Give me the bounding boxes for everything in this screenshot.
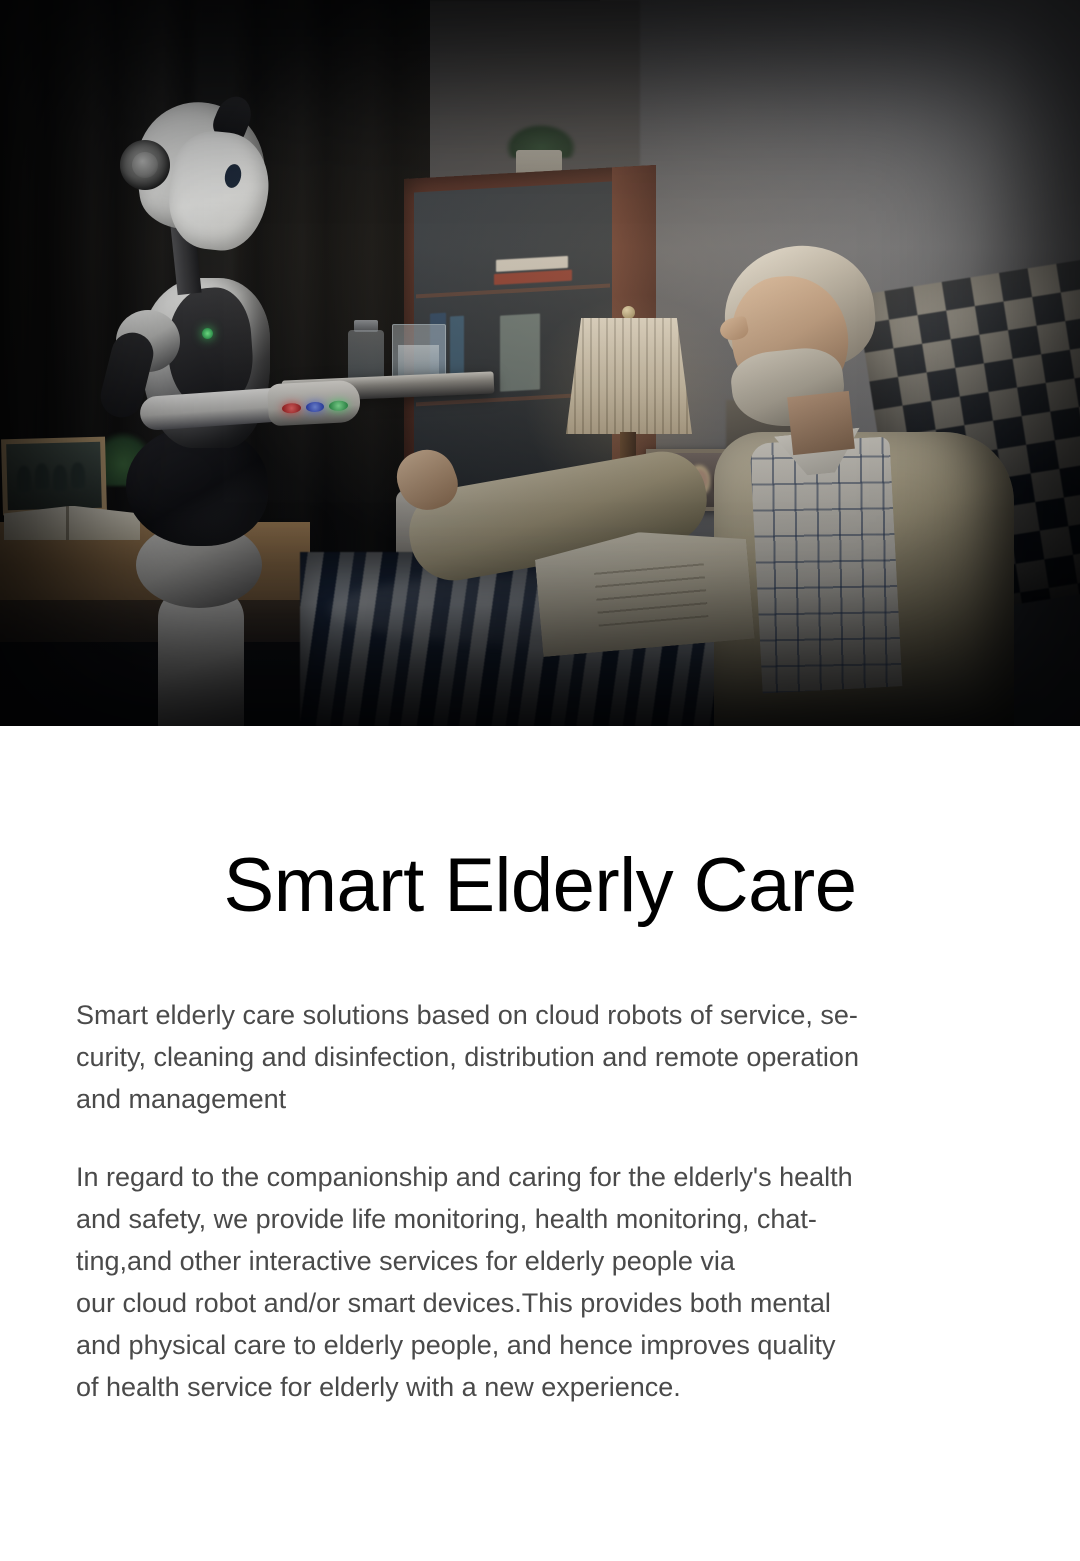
picture-frame-desk bbox=[1, 437, 107, 516]
led-red-icon bbox=[282, 403, 301, 414]
body-copy: Smart elderly care solutions based on cl… bbox=[0, 994, 1080, 1408]
book-spine bbox=[66, 506, 69, 540]
robot-ear-inner bbox=[132, 152, 158, 178]
paragraph-intro: Smart elderly care solutions based on cl… bbox=[76, 994, 1004, 1120]
hero-scene bbox=[0, 0, 1080, 726]
photo-figure bbox=[53, 465, 68, 491]
desk-photo bbox=[6, 442, 102, 510]
paragraph-details: In regard to the companionship and carin… bbox=[76, 1156, 1004, 1408]
led-green-icon bbox=[329, 400, 348, 411]
photo-figure bbox=[17, 466, 32, 492]
page-root: Smart Elderly Care Smart elderly care so… bbox=[0, 0, 1080, 1561]
plaid-shirt bbox=[750, 437, 903, 694]
photo-figure bbox=[35, 463, 50, 489]
photo-figure bbox=[71, 462, 86, 488]
robot-chest-led-icon bbox=[202, 328, 213, 339]
hero-image bbox=[0, 0, 1080, 726]
book-text-lines bbox=[594, 557, 709, 626]
content-section: Smart Elderly Care Smart elderly care so… bbox=[0, 726, 1080, 1408]
service-robot bbox=[96, 96, 426, 726]
book-on-shelf bbox=[500, 313, 540, 391]
led-blue-icon bbox=[305, 402, 324, 413]
robot-leg bbox=[158, 588, 244, 726]
elderly-man bbox=[640, 244, 1080, 726]
page-title: Smart Elderly Care bbox=[0, 726, 1080, 924]
man-neck bbox=[787, 391, 855, 455]
lamp-finial bbox=[622, 306, 635, 319]
